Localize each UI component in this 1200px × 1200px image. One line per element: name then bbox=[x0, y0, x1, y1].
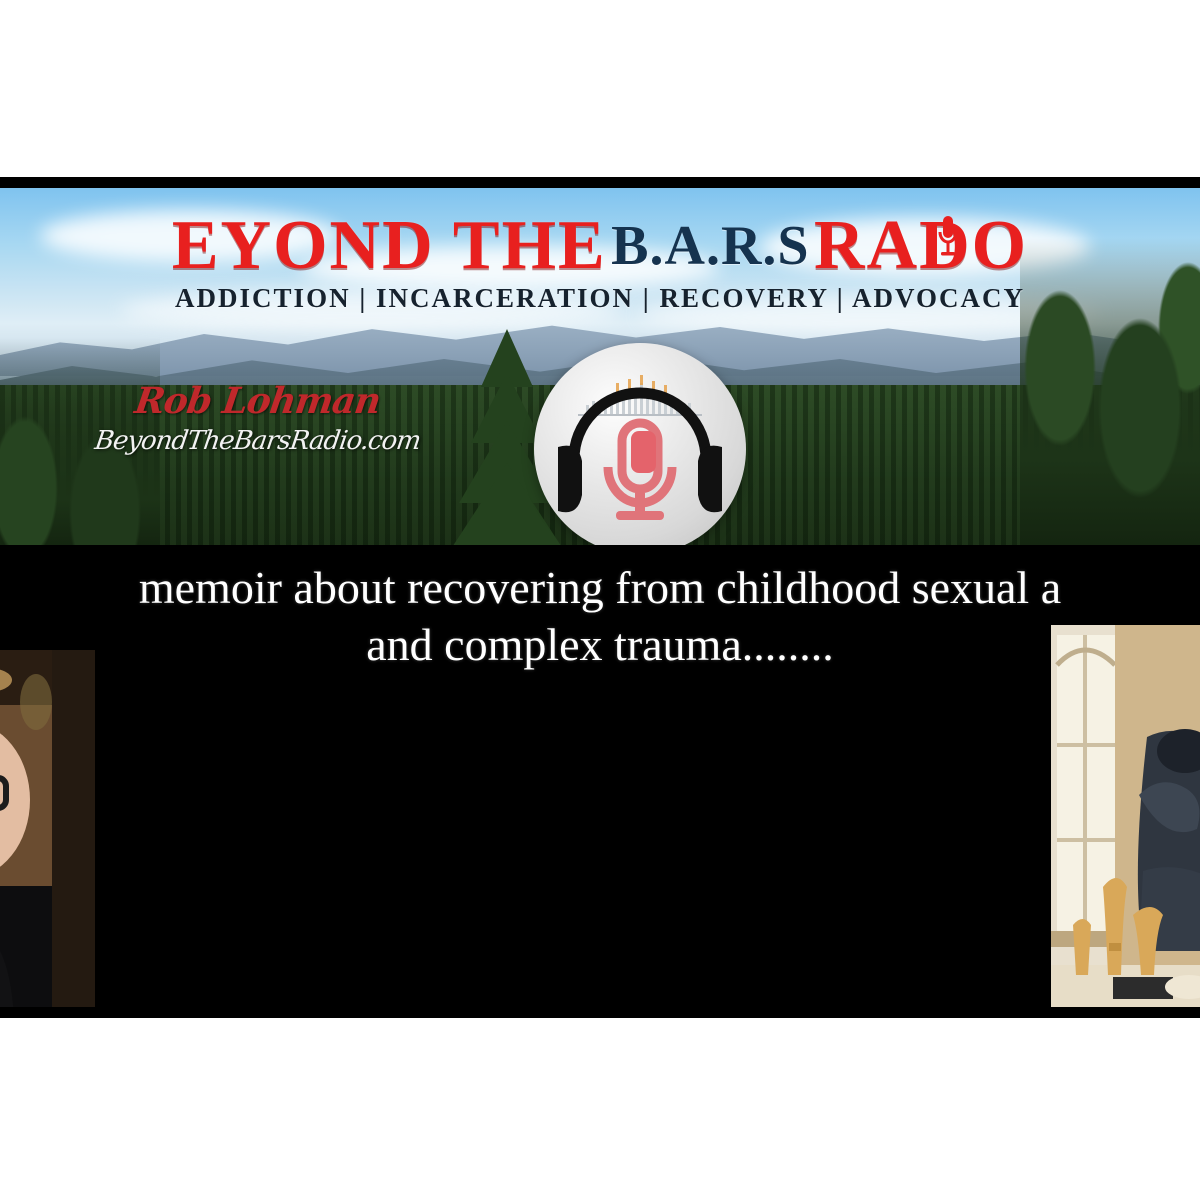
page-canvas: EYOND THE B.A.R.S RAD O ADDICTION | INCA… bbox=[0, 0, 1200, 1200]
wordmark-bars: B.A.R.S bbox=[611, 215, 809, 277]
guest-topic-photo bbox=[1051, 625, 1200, 1015]
wordmark-o-letter: O bbox=[972, 207, 1028, 284]
headphones-microphone-icon bbox=[534, 343, 746, 545]
episode-subtitle-line-2: and complex trauma........ bbox=[0, 616, 1200, 673]
show-wordmark: EYOND THE B.A.R.S RAD O bbox=[0, 206, 1200, 286]
wordmark-beyond-the: EYOND THE bbox=[172, 207, 607, 284]
show-tagline: ADDICTION | INCARCERATION | RECOVERY | A… bbox=[0, 283, 1200, 314]
signature-name: Rob Lohman bbox=[92, 380, 423, 422]
banner-top-rule bbox=[0, 177, 1200, 188]
episode-subtitle-line-1: memoir about recovering from childhood s… bbox=[0, 559, 1200, 616]
podcast-episode-card: EYOND THE B.A.R.S RAD O ADDICTION | INCA… bbox=[0, 177, 1200, 1018]
signature-website: BeyondTheBarsRadio.com bbox=[93, 426, 422, 456]
wordmark-o: O bbox=[972, 206, 1028, 286]
host-signature-overlay: Rob Lohman BeyondTheBarsRadio.com bbox=[95, 380, 420, 456]
host-headshot bbox=[0, 650, 95, 1018]
show-banner-image: EYOND THE B.A.R.S RAD O ADDICTION | INCA… bbox=[0, 188, 1200, 545]
episode-info-panel: memoir about recovering from childhood s… bbox=[0, 545, 1200, 1018]
microphone-accent-icon bbox=[938, 214, 958, 260]
episode-subtitle: memoir about recovering from childhood s… bbox=[0, 559, 1200, 673]
banner-bottom-rule bbox=[0, 1007, 1200, 1018]
